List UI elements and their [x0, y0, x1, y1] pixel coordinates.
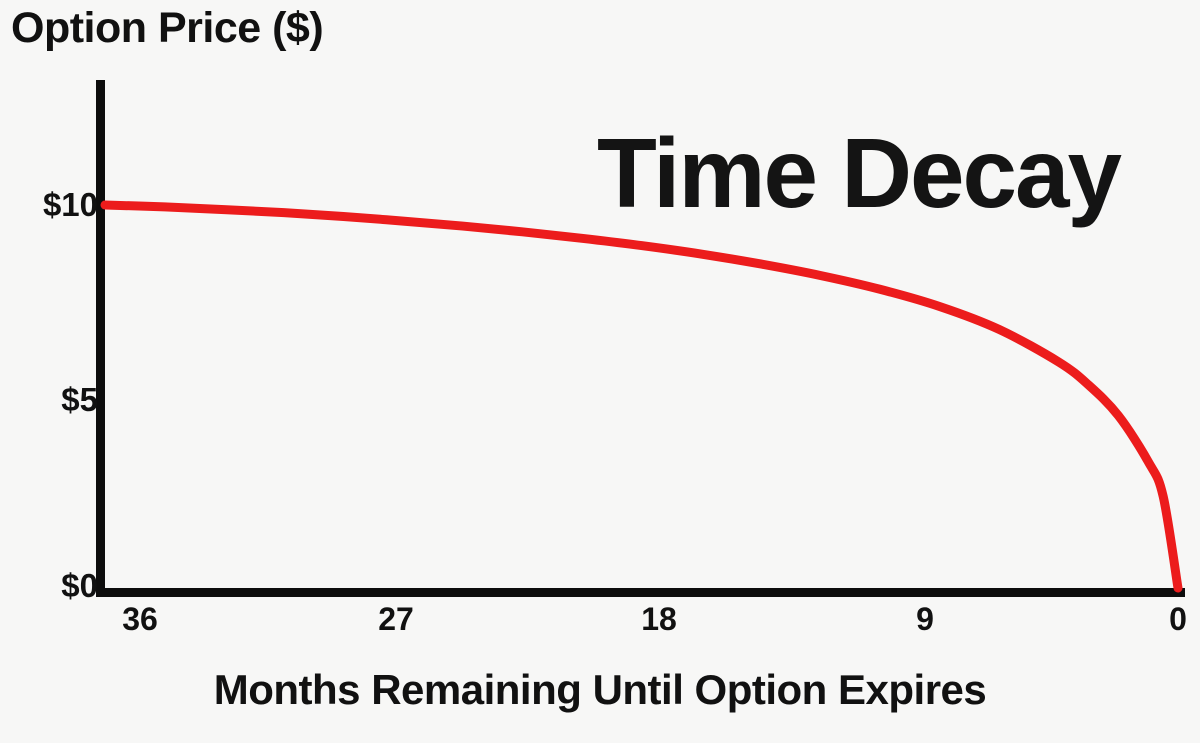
- x-axis-title: Months Remaining Until Option Expires: [0, 669, 1200, 711]
- chart-title: Time Decay: [597, 124, 1120, 222]
- y-axis-line: [96, 80, 105, 589]
- x-tick-label-18: 18: [641, 603, 677, 635]
- y-tick-label-5: $5: [33, 383, 98, 416]
- x-tick-label-9: 9: [916, 603, 934, 635]
- x-tick-label-27: 27: [378, 603, 414, 635]
- y-tick-label-0: $0: [22, 569, 98, 602]
- plot-area: [0, 0, 1200, 743]
- y-tick-label-10: $10: [13, 188, 98, 221]
- y-axis-title: Option Price ($): [11, 7, 323, 50]
- x-axis-line: [96, 588, 1185, 597]
- x-tick-label-36: 36: [122, 603, 158, 635]
- x-tick-label-0: 0: [1169, 603, 1187, 635]
- time-decay-curve: [105, 205, 1178, 588]
- time-decay-chart: Option Price ($) Time Decay $10 $5 $0 36…: [0, 0, 1200, 743]
